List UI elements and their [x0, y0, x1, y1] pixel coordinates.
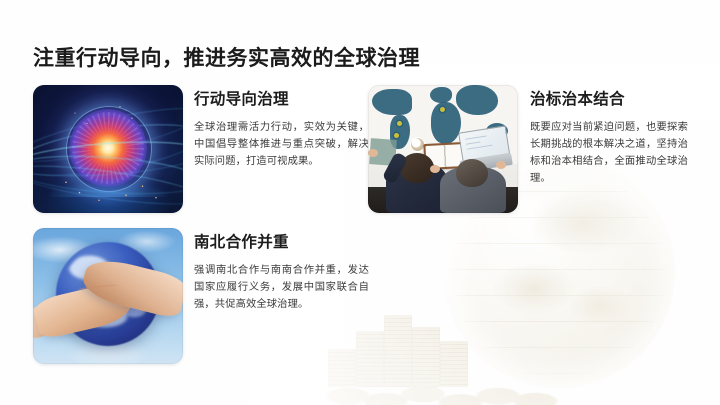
card-action-oriented-governance: 行动导向治理 全球治理需活力行动，实效为关键，中国倡导整体推进与重点突破，解决实…	[33, 85, 369, 213]
hand	[496, 161, 506, 169]
card-heading: 南北合作并重	[194, 234, 369, 253]
card-heading: 治标治本结合	[530, 91, 688, 110]
continent-asia	[456, 85, 498, 115]
coin-pile	[318, 371, 568, 405]
coin-stack	[440, 341, 468, 387]
map-pin-icon	[397, 121, 402, 126]
hand	[430, 165, 440, 173]
energy-sparks	[33, 85, 183, 213]
glowing-energy-sphere-image	[33, 85, 183, 213]
card-text-block: 行动导向治理 全球治理需活力行动，实效为关键，中国倡导整体推进与重点突破，解决实…	[183, 85, 369, 170]
page-title: 注重行动导向，推进务实高效的全球治理	[33, 42, 420, 72]
card-symptom-and-root-cause: 治标治本结合 既要应对当前紧迫问题，也要探索长期挑战的根本解决之道，坚持治标和治…	[368, 85, 688, 213]
continent-europe	[430, 87, 452, 103]
person-left	[386, 151, 448, 213]
person-right-head	[456, 159, 488, 187]
map-pin-icon	[394, 133, 399, 138]
fingers	[67, 283, 133, 333]
slide-root: 注重行动导向，推进务实高效的全球治理 行动导向治理 全球治理需活力行动，实效为关…	[0, 0, 720, 405]
card-north-south-cooperation: 南北合作并重 强调南北合作与南南合作并重，发达国家应履行义务，发展中国家联合自强…	[33, 228, 369, 364]
card-heading: 行动导向治理	[194, 91, 369, 110]
card-body-text: 全球治理需活力行动，实效为关键，中国倡导整体推进与重点突破，解决实际问题，打造可…	[194, 119, 369, 171]
continent-north-america	[372, 89, 412, 115]
business-meeting-world-map-image	[368, 85, 518, 213]
card-body-text: 既要应对当前紧迫问题，也要探索长期挑战的根本解决之道，坚持治标和治本相结合，全面…	[530, 119, 688, 188]
coin-stack	[412, 327, 440, 387]
card-text-block: 治标治本结合 既要应对当前紧迫问题，也要探索长期挑战的根本解决之道，坚持治标和治…	[518, 85, 688, 188]
coin-stack	[384, 315, 412, 387]
card-text-block: 南北合作并重 强调南北合作与南南合作并重，发达国家应履行义务，发展中国家联合自强…	[183, 228, 369, 313]
hand	[368, 149, 378, 157]
card-body-text: 强调南北合作与南南合作并重，发达国家应履行义务，发展中国家联合自强，共促高效全球…	[194, 262, 369, 314]
handshake-globe-image	[33, 228, 183, 364]
map-pin-icon	[440, 107, 445, 112]
